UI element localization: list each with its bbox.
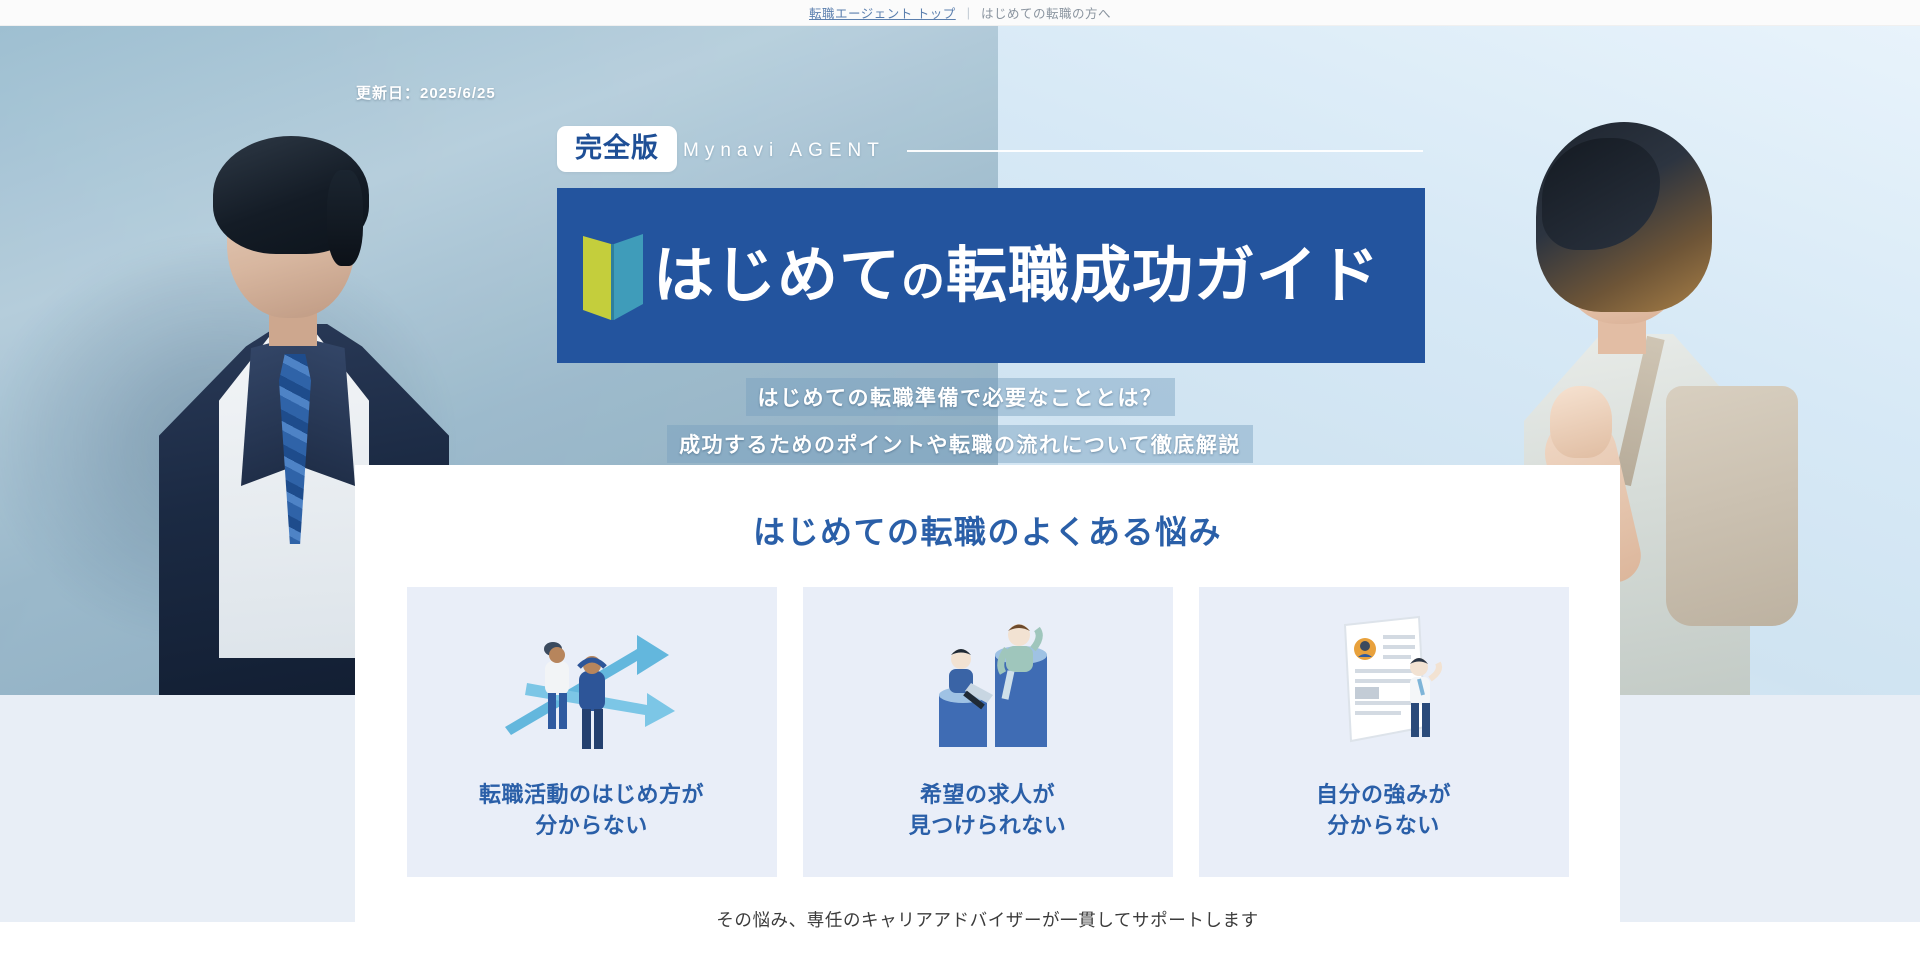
hero-title-banner: はじめての転職成功ガイド <box>557 188 1425 363</box>
worry-card-line1: 自分の強みが <box>1316 779 1451 810</box>
worries-section: はじめての転職のよくある悩み 転職活動のはじめ方が 分からない <box>355 465 1620 956</box>
worry-card-line1: 転職活動のはじめ方が <box>479 779 704 810</box>
brand-rule <box>907 150 1423 152</box>
brand-line: Mynavi AGENT <box>683 140 1423 162</box>
complete-edition-badge: 完全版 <box>557 126 677 172</box>
breadcrumb-separator: | <box>967 6 970 20</box>
breadcrumb-current: はじめての転職の方へ <box>981 3 1111 22</box>
hero-subtitle-1: はじめての転職準備で必要なこととは？ <box>746 378 1175 416</box>
resume-document-person-icon <box>1279 609 1489 759</box>
worry-card-line2: 分からない <box>479 810 704 841</box>
worry-card: 自分の強みが 分からない <box>1199 587 1569 877</box>
hero-subtitles: はじめての転職準備で必要なこととは？ 成功するためのポイントや転職の流れについて… <box>0 378 1920 463</box>
section-heading: はじめての転職のよくある悩み <box>355 507 1620 553</box>
hero-subtitle-2: 成功するためのポイントや転職の流れについて徹底解説 <box>667 425 1253 463</box>
page-title-particle: の <box>901 257 946 306</box>
worry-card-line1: 希望の求人が <box>909 779 1067 810</box>
worry-card: 希望の求人が 見つけられない <box>803 587 1173 877</box>
page-title-part1: はじめて <box>653 241 901 309</box>
update-date: 更新日：2025/6/25 <box>356 82 496 103</box>
crossroads-arrows-people-icon <box>487 609 697 759</box>
hero-title-block: 完全版 Mynavi AGENT はじめての転職成功ガイド <box>557 130 1437 363</box>
breadcrumb: 転職エージェント トップ | はじめての転職の方へ <box>0 0 1920 26</box>
worry-card-label: 転職活動のはじめ方が 分からない <box>479 779 704 841</box>
worry-card-line2: 分からない <box>1316 810 1451 841</box>
worry-card-label: 希望の求人が 見つけられない <box>909 779 1067 841</box>
page-title-part2: 転職成功ガイド <box>946 241 1380 309</box>
worry-card-list: 転職活動のはじめ方が 分からない <box>355 587 1620 877</box>
worry-card-label: 自分の強みが 分からない <box>1316 779 1451 841</box>
worry-card-line2: 見つけられない <box>909 810 1067 841</box>
open-book-icon <box>581 230 647 322</box>
worry-card: 転職活動のはじめ方が 分からない <box>407 587 777 877</box>
support-footnote: その悩み、専任のキャリアアドバイザーが一貫してサポートします <box>355 907 1620 932</box>
breadcrumb-home-link[interactable]: 転職エージェント トップ <box>809 3 956 22</box>
page-title: はじめての転職成功ガイド <box>653 245 1380 306</box>
people-on-pillars-icon <box>883 609 1093 759</box>
brand-name: Mynavi AGENT <box>683 140 885 162</box>
